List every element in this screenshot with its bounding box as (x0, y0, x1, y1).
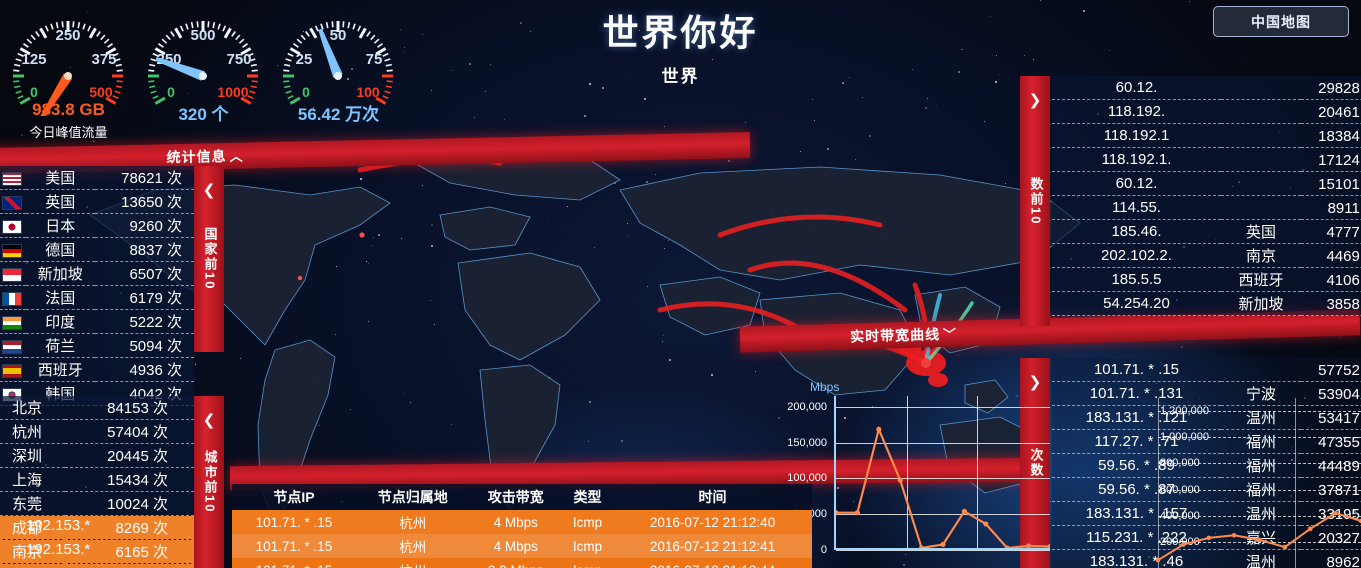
ip-count: 20461 次 (1301, 100, 1361, 124)
country-value: 5222 次 (95, 310, 194, 334)
table-header-row: 节点IP节点归属地攻击带宽类型时间 (232, 484, 812, 510)
ip-location: 新加坡 (1221, 292, 1301, 316)
gauge-min-label: 0 (302, 84, 310, 100)
table-row-overlap[interactable]: 成都192.153.*8269 次 (0, 516, 194, 540)
gauge-tick-low: 25 (296, 51, 313, 68)
cell-loc: 杭州 (356, 534, 470, 558)
gauge-min-label: 0 (167, 84, 175, 100)
ip-panel-tab-label: 数前10 (1028, 177, 1043, 225)
table-row[interactable]: 德国8837 次 (0, 238, 194, 262)
table-row[interactable]: 英国13650 次 (0, 190, 194, 214)
city-top10-panel: 北京84153 次杭州57404 次深圳20445 次上海15434 次东莞10… (0, 396, 225, 568)
table-row[interactable]: 60.12.29828 次 (1052, 76, 1361, 100)
city-value-overlap: 8269 次 (65, 516, 194, 540)
country-value: 4936 次 (95, 358, 194, 382)
table-row[interactable]: 深圳20445 次 (0, 444, 194, 468)
flag-cell (0, 310, 26, 334)
gauge-tick-mid: 50 (330, 27, 347, 44)
ip-location (1221, 358, 1301, 382)
cell-time: 2016-07-12 21:12:40 (613, 510, 812, 534)
cell-bw: 4 Mbps (470, 534, 562, 558)
flag-icon-in (2, 316, 22, 330)
gridline (836, 550, 1050, 551)
gauge-group: 250 125 375 0 500 983.8 GB 今日峰值流量 500 25… (6, 6, 401, 141)
ip-address: 118.192. (1052, 100, 1221, 124)
table-row-overlap[interactable]: 南京192.153.*6165 次 (0, 540, 194, 564)
ip-count: 15101 次 (1301, 172, 1361, 196)
cell-time: 2016-07-12 21:12:41 (613, 534, 812, 558)
cell-type: Icmp (562, 510, 613, 534)
ip-count: 29828 次 (1301, 76, 1361, 100)
table-row[interactable]: 101.71. * .15杭州4 MbpsIcmp2016-07-12 21:1… (232, 510, 812, 534)
table-row[interactable]: 185.5.5西班牙4106 次 (1052, 268, 1361, 292)
gauge-tick-mid: 500 (190, 27, 215, 44)
ip-location (1221, 100, 1301, 124)
city-name: 东莞 (0, 492, 65, 516)
table-row[interactable]: 118.192.118384 次 (1052, 124, 1361, 148)
flag-icon-de (2, 244, 22, 258)
chart-plot-area (834, 396, 1050, 550)
y-axis-tick: 100,000 (787, 472, 830, 484)
table-row[interactable]: 日本9260 次 (0, 214, 194, 238)
city-value: 10024 次 (65, 492, 194, 516)
table-row[interactable]: 杭州57404 次 (0, 420, 194, 444)
ip-count: 8911 次 (1301, 196, 1361, 220)
ip-address: 202.102.2. (1052, 244, 1221, 268)
ip-address: 60.12. (1052, 76, 1221, 100)
ip-address: 118.192.1 (1052, 124, 1221, 148)
ip-location (1221, 148, 1301, 172)
column-header[interactable]: 节点归属地 (356, 484, 470, 510)
ip-count: 3858 次 (1301, 292, 1361, 316)
city-value-overlap: 6165 次 (65, 540, 194, 564)
table-row[interactable]: 新加坡6507 次 (0, 262, 194, 286)
ip-location: 西班牙 (1221, 268, 1301, 292)
cell-time: 2016-07-12 21:12:44 (613, 558, 812, 568)
table-row[interactable]: 114.55.8911 次 (1052, 196, 1361, 220)
city-name-overlap: 南京192.153.* (0, 540, 65, 564)
cell-type: Icmp (562, 534, 613, 558)
ip-address: 60.12. (1052, 172, 1221, 196)
table-row[interactable]: 法国6179 次 (0, 286, 194, 310)
gauge-tick-high: 375 (91, 51, 116, 68)
gauge-attack-count: 50 25 75 0 100 56.42 万次 (276, 6, 401, 141)
ip-address: 185.5.5 (1052, 268, 1221, 292)
table-row[interactable]: 60.12.15101 次 (1052, 172, 1361, 196)
cell-ip: 101.71. * .15 (232, 558, 356, 568)
cell-loc: 杭州 (356, 510, 470, 534)
ip-address: 54.254.20 (1052, 292, 1221, 316)
table-row[interactable]: 荷兰5094 次 (0, 334, 194, 358)
gauge-tick-high: 750 (226, 51, 251, 68)
ip-address: 101.71. * .15 (1052, 358, 1221, 382)
ip-location (1221, 172, 1301, 196)
ip-location (1221, 196, 1301, 220)
bandwidth-chart: Mbps 050,000100,000150,000200,000 (800, 392, 1050, 568)
table-row[interactable]: 185.46.英国4777 次 (1052, 220, 1361, 244)
attack-detail-table: 节点IP节点归属地攻击带宽类型时间 101.71. * .15杭州4 MbpsI… (232, 484, 812, 568)
column-header[interactable]: 攻击带宽 (470, 484, 562, 510)
ip-count: 4777 次 (1301, 220, 1361, 244)
table-row[interactable]: 北京84153 次 (0, 396, 194, 420)
city-name-overlap: 广州192.153.* (0, 564, 65, 568)
y-axis-tick: 150,000 (787, 437, 830, 449)
flag-cell (0, 286, 26, 310)
cell-loc: 杭州 (356, 558, 470, 568)
country-name: 西班牙 (26, 358, 95, 382)
flag-cell (0, 334, 26, 358)
ip-panel-tab[interactable]: ❯ 数前10 (1020, 76, 1050, 326)
column-header[interactable]: 类型 (562, 484, 613, 510)
city-panel-tab-label: 城市前10 (202, 450, 217, 513)
gauge-max-label: 100 (356, 84, 380, 100)
chart-y-unit: Mbps (810, 380, 839, 394)
gauge-peak-traffic: 250 125 375 0 500 983.8 GB 今日峰值流量 (6, 6, 131, 141)
city-value: 57404 次 (65, 420, 194, 444)
table-row[interactable]: 美国78621 次 (0, 166, 194, 190)
chevron-down-icon: ﹀ (943, 324, 958, 343)
flag-icon-fr (2, 292, 22, 306)
chevron-left-icon: ❮ (203, 182, 216, 199)
count-chart: 200,000400,000600,000800,0001,000,0001,2… (1130, 398, 1361, 568)
city-name-overlap: 成都192.153.* (0, 516, 65, 540)
ip-count: 4106 次 (1301, 268, 1361, 292)
flag-cell (0, 262, 26, 286)
table-row[interactable]: 西班牙4936 次 (0, 358, 194, 382)
cell-bw: 3.9 Mbps (470, 558, 562, 568)
flag-icon-jp (2, 220, 22, 234)
city-value: 20445 次 (65, 444, 194, 468)
country-value: 13650 次 (95, 190, 194, 214)
gauge-min-label: 0 (30, 84, 38, 100)
ip-location (1221, 76, 1301, 100)
country-top10-panel: 美国78621 次英国13650 次日本9260 次德国8837 次新加坡650… (0, 166, 225, 406)
city-name: 杭州 (0, 420, 65, 444)
flag-cell (0, 358, 26, 382)
country-value: 6507 次 (95, 262, 194, 286)
gauge-tick-high: 75 (366, 51, 383, 68)
gauge-value: 320 个 (141, 100, 266, 125)
city-value: 84153 次 (65, 396, 194, 420)
city-value: 15434 次 (65, 468, 194, 492)
flag-cell (0, 166, 26, 190)
country-value: 5094 次 (95, 334, 194, 358)
city-name: 北京 (0, 396, 65, 420)
ip-location (1221, 124, 1301, 148)
ip-list-top: 60.12.29828 次118.192.20461 次118.192.1183… (1052, 76, 1361, 316)
country-name: 新加坡 (26, 262, 95, 286)
ip-count: 18384 次 (1301, 124, 1361, 148)
city-list: 北京84153 次杭州57404 次深圳20445 次上海15434 次东莞10… (0, 396, 194, 568)
country-name: 印度 (26, 310, 95, 334)
chevron-up-icon: ︿ (229, 146, 243, 165)
ip-count: 57752 次 (1301, 358, 1361, 382)
ip-address: 185.46. (1052, 220, 1221, 244)
china-map-button[interactable]: 中国地图 (1213, 6, 1349, 37)
chevron-right-icon: ❯ (1029, 92, 1042, 109)
y-axis-tick: 0 (821, 544, 830, 556)
flag-icon-sg (2, 268, 22, 282)
ip-top10-panel: 60.12.29828 次118.192.20461 次118.192.1183… (1020, 76, 1361, 316)
city-name: 上海 (0, 468, 65, 492)
column-header[interactable]: 时间 (613, 484, 812, 510)
stats-banner-label: 统计信息 (166, 148, 226, 165)
cell-type: Icmp (562, 558, 613, 568)
table-row[interactable]: 上海15434 次 (0, 468, 194, 492)
flag-icon-es (2, 364, 22, 378)
cell-ip: 101.71. * .15 (232, 510, 356, 534)
country-value: 8837 次 (95, 238, 194, 262)
table-row[interactable]: 101.71. * .15杭州3.9 MbpsIcmp2016-07-12 21… (232, 558, 812, 568)
chevron-left-icon: ❮ (203, 412, 216, 429)
flag-icon-nl (2, 340, 22, 354)
country-name: 日本 (26, 214, 95, 238)
gauge-tick-mid: 250 (55, 27, 80, 44)
cell-bw: 4 Mbps (470, 510, 562, 534)
flag-icon-us (2, 172, 22, 186)
ip-address: 118.192.1. (1052, 148, 1221, 172)
city-value-overlap: 5082 次 (65, 564, 194, 568)
table-row-overlap[interactable]: 广州192.153.*5082 次 (0, 564, 194, 568)
country-panel-tab-label: 国家前10 (202, 227, 217, 290)
country-name: 美国 (26, 166, 95, 190)
flag-cell (0, 214, 26, 238)
flag-cell (0, 190, 26, 214)
table-row[interactable]: 118.192.1.17124 次 (1052, 148, 1361, 172)
gauge-tick-low: 125 (21, 51, 46, 68)
table-row[interactable]: 202.102.2.南京4469 次 (1052, 244, 1361, 268)
table-row[interactable]: 54.254.20新加坡3858 次 (1052, 292, 1361, 316)
country-value: 6179 次 (95, 286, 194, 310)
flag-cell (0, 238, 26, 262)
country-list: 美国78621 次英国13650 次日本9260 次德国8837 次新加坡650… (0, 166, 194, 406)
ip-address: 114.55. (1052, 196, 1221, 220)
gauge-node-count: 500 250 750 0 1000 320 个 (141, 6, 266, 141)
country-name: 德国 (26, 238, 95, 262)
country-value: 78621 次 (95, 166, 194, 190)
city-name: 深圳 (0, 444, 65, 468)
gauge-caption: 今日峰值流量 (6, 122, 131, 141)
country-name: 法国 (26, 286, 95, 310)
gauge-max-label: 500 (89, 84, 113, 100)
cell-ip: 101.71. * .15 (232, 534, 356, 558)
country-name: 荷兰 (26, 334, 95, 358)
country-name: 英国 (26, 190, 95, 214)
table-row[interactable]: 118.192.20461 次 (1052, 100, 1361, 124)
bandwidth-banner-label: 实时带宽曲线 (850, 326, 940, 345)
country-value: 9260 次 (95, 214, 194, 238)
country-panel-tab[interactable]: ❮ 国家前10 (194, 166, 224, 352)
gauge-value: 983.8 GB (6, 100, 131, 120)
ip-count: 17124 次 (1301, 148, 1361, 172)
table-row[interactable]: 印度5222 次 (0, 310, 194, 334)
ip-location: 英国 (1221, 220, 1301, 244)
table-row[interactable]: 101.71. * .1557752 次 (1052, 358, 1361, 382)
ip-location: 南京 (1221, 244, 1301, 268)
city-panel-tab[interactable]: ❮ 城市前10 (194, 396, 224, 568)
table-row[interactable]: 101.71. * .15杭州4 MbpsIcmp2016-07-12 21:1… (232, 534, 812, 558)
column-header[interactable]: 节点IP (232, 484, 356, 510)
flag-icon-gb (2, 196, 22, 210)
gauge-value: 56.42 万次 (276, 100, 401, 125)
y-axis-tick: 200,000 (787, 401, 830, 413)
table-row[interactable]: 东莞10024 次 (0, 492, 194, 516)
ip-count: 4469 次 (1301, 244, 1361, 268)
gauge-max-label: 1000 (217, 84, 248, 100)
chevron-right-icon: ❯ (1029, 374, 1042, 391)
